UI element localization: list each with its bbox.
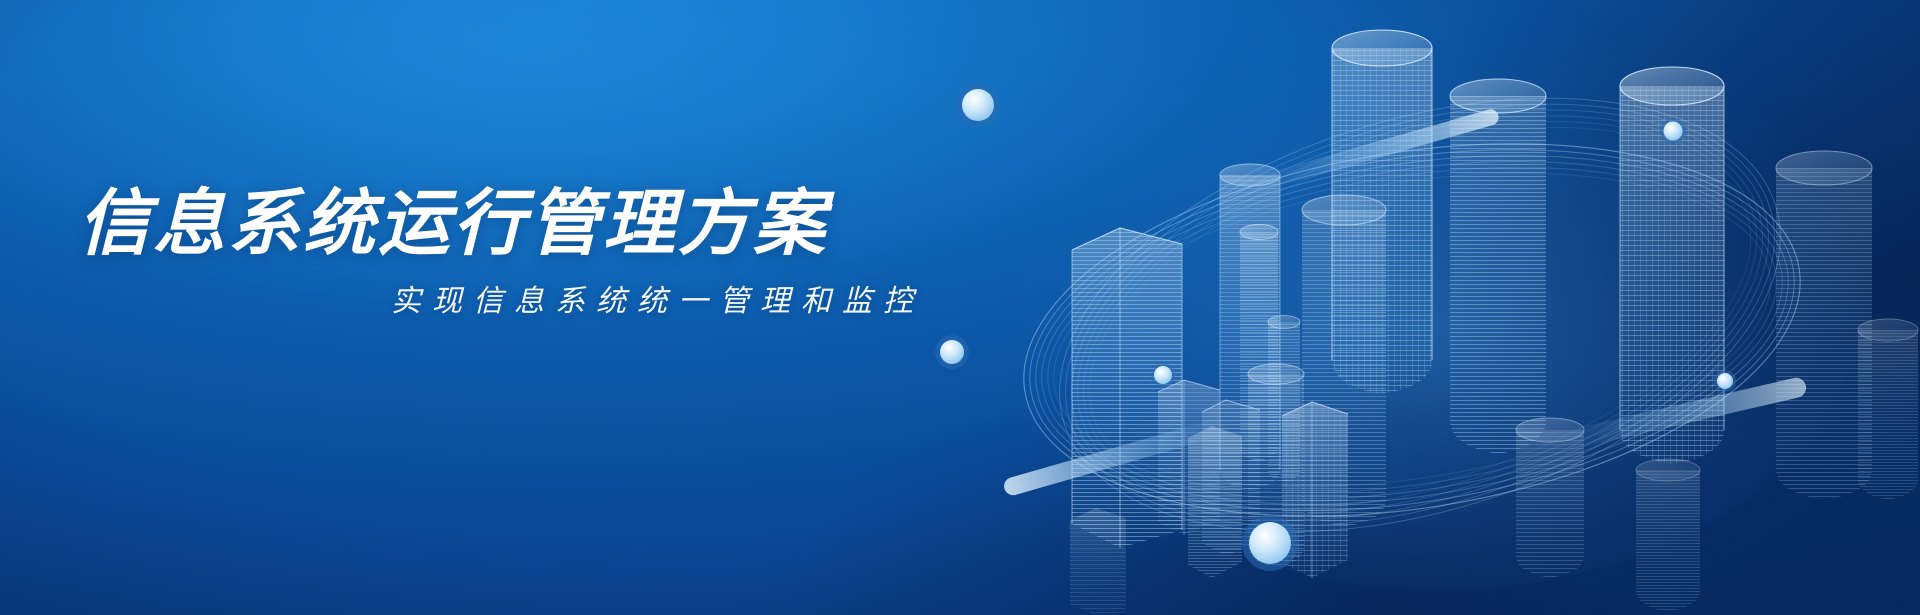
wireframe-tower xyxy=(1450,79,1546,454)
light-streak-lower xyxy=(1002,415,1234,497)
light-streak-upper xyxy=(1250,107,1500,193)
page-subtitle: 实现信息系统统一管理和监控 xyxy=(78,284,958,320)
wireframe-tower xyxy=(1158,380,1220,535)
glow-dot-bottom xyxy=(1242,515,1298,571)
wireframe-tower xyxy=(1240,225,1278,462)
wireframe-tower xyxy=(1620,67,1724,464)
wireframe-tower xyxy=(1070,508,1126,615)
orbit-ring-back xyxy=(1007,19,1833,611)
wireframe-tower xyxy=(1858,319,1918,500)
page-title: 信息系统运行管理方案 xyxy=(78,186,958,262)
wireframe-tower xyxy=(1268,316,1300,483)
glow-dot-mid xyxy=(1151,363,1175,387)
wireframe-tower xyxy=(1636,459,1700,612)
glow-dot-right-bottom xyxy=(1714,370,1736,392)
orbit-ring-front xyxy=(997,93,1827,567)
glow-dot-left xyxy=(935,335,969,369)
hero-banner: 信息系统运行管理方案 实现信息系统统一管理和监控 xyxy=(0,0,1920,615)
wireframe-tower xyxy=(1302,195,1386,527)
wireframe-tower xyxy=(1332,30,1432,394)
glow-dot-right-top xyxy=(1660,118,1686,144)
wireframe-tower xyxy=(1220,164,1280,490)
headline-block: 信息系统运行管理方案 实现信息系统统一管理和监控 xyxy=(78,186,958,320)
wireframe-tower xyxy=(1776,151,1872,500)
wireframe-tower xyxy=(1248,364,1304,568)
wireframe-tower xyxy=(1188,426,1242,578)
light-streak-right xyxy=(1560,376,1808,452)
wireframe-tower xyxy=(1072,228,1182,548)
city-illustration xyxy=(920,0,1920,615)
wireframe-tower xyxy=(1282,402,1348,578)
wireframe-tower xyxy=(1516,418,1584,578)
glow-dot-top-left xyxy=(956,83,1000,127)
wireframe-tower xyxy=(1202,400,1260,556)
city-haze xyxy=(1020,10,1860,590)
